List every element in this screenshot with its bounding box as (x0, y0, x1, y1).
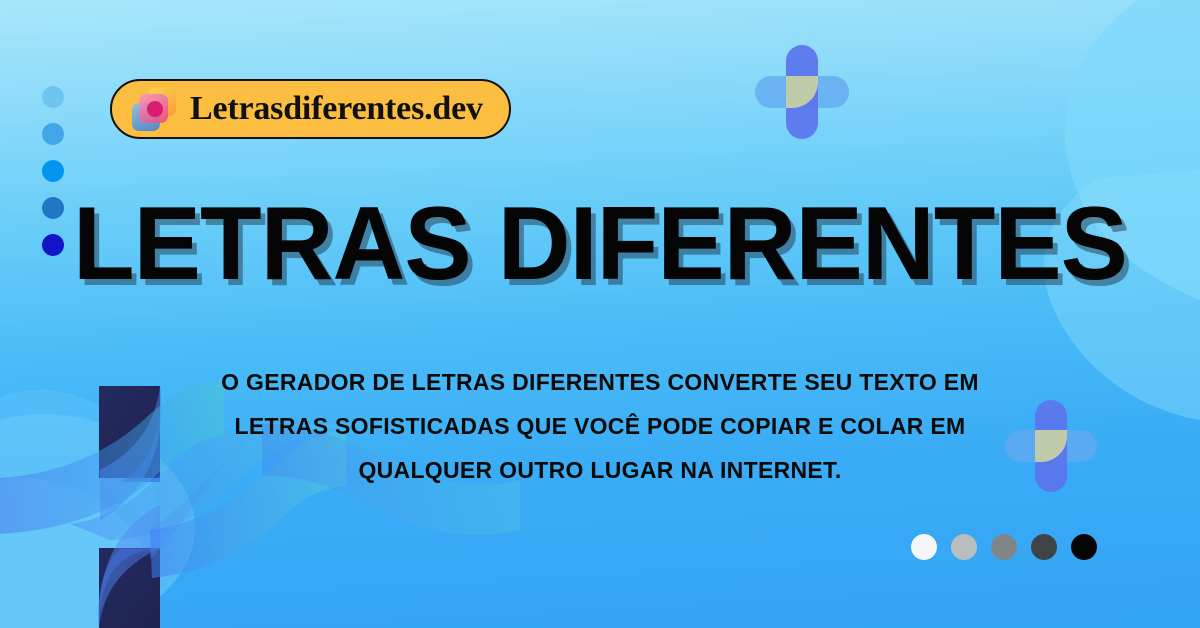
ribbon-navy-upper (99, 386, 160, 482)
grayscale-dot-5 (1071, 534, 1097, 560)
bottom-right-dot-row (911, 534, 1097, 560)
dot-3 (42, 160, 64, 182)
logo-badge-label: Letrasdiferentes.dev (190, 92, 483, 126)
grayscale-dot-4 (1031, 534, 1057, 560)
plus-top-right-icon (755, 45, 849, 139)
grayscale-dot-3 (991, 534, 1017, 560)
page-title: LETRAS DIFERENTES (18, 192, 1182, 296)
grayscale-dot-2 (951, 534, 977, 560)
stacked-squares-logo-icon (132, 87, 176, 131)
grayscale-dot-1 (911, 534, 937, 560)
ribbon-navy-lower (98, 548, 160, 628)
bottom-left-blob (0, 390, 195, 628)
page-subtitle: O GERADOR DE LETRAS DIFERENTES CONVERTE … (220, 360, 980, 492)
logo-center-dot (147, 101, 163, 117)
dot-1 (42, 86, 64, 108)
ribbon-swirl (99, 386, 162, 628)
dot-2 (42, 123, 64, 145)
ribbon-band-left (0, 380, 224, 534)
plus-bottom-right-icon (1005, 400, 1097, 492)
logo-badge[interactable]: Letrasdiferentes.dev (110, 79, 511, 139)
promo-banner: Letrasdiferentes.dev LETRAS DIFERENTES O… (0, 0, 1200, 628)
